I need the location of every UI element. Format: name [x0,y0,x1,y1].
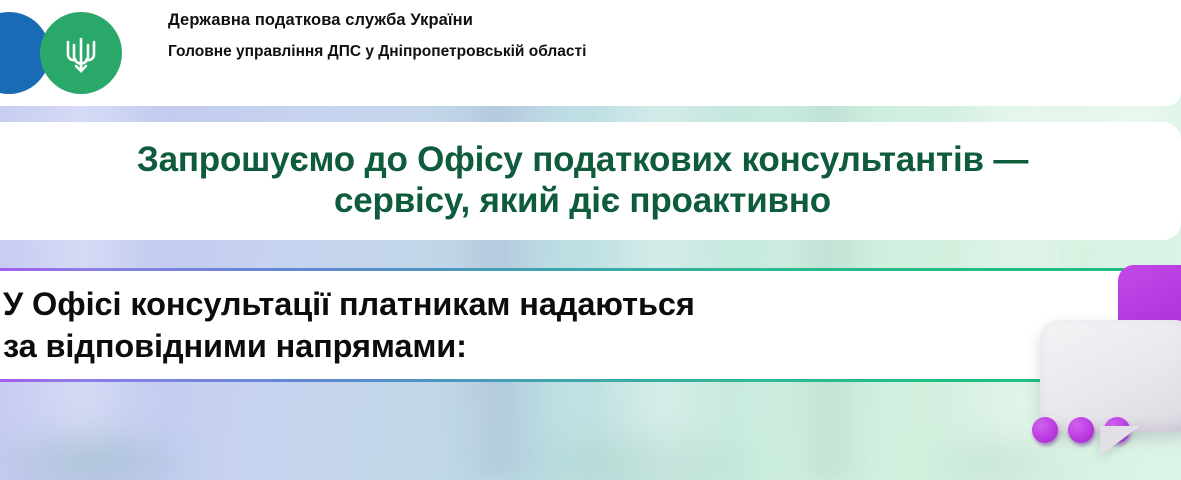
slide-title: Запрошуємо до Офісу податкових консульта… [0,140,1181,221]
title-card: Запрошуємо до Офісу податкових консульта… [0,122,1181,240]
subtitle-box: У Офісі консультації платникам надаються… [0,268,1181,382]
organization-department: Головне управління ДПС у Дніпропетровськ… [168,41,586,63]
header-bar: Державна податкова служба України Головн… [0,0,1181,106]
organization-name: Державна податкова служба України [168,10,586,31]
ukraine-trident-icon [63,34,99,74]
slide-subtitle: У Офісі консультації платникам надаються… [0,283,695,368]
header-text-block: Державна податкова служба України Головн… [168,10,586,63]
chat-bubbles-illustration [1072,258,1181,458]
organization-logo [0,12,168,94]
chat-bubble-white-icon [1040,320,1181,432]
chat-bubble-tail-icon [1100,426,1140,456]
slide-canvas: Державна податкова служба України Головн… [0,0,1181,480]
dot-1-icon [1032,417,1058,443]
dot-2-icon [1068,417,1094,443]
